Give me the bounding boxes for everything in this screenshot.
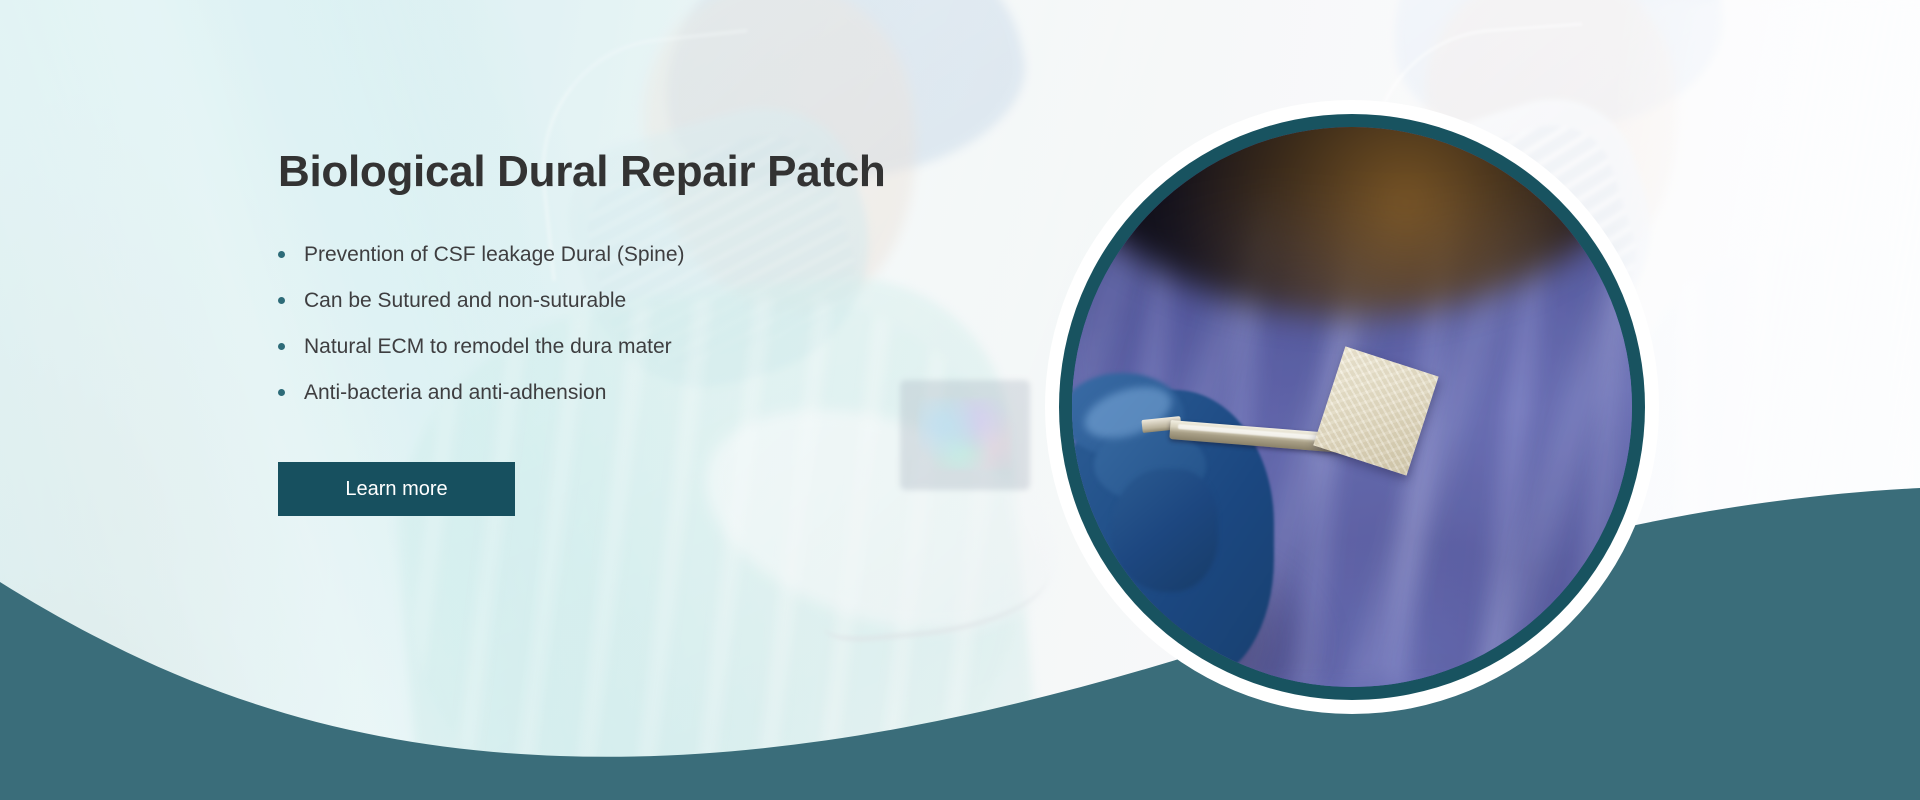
wave-path <box>0 488 1920 800</box>
product-image-circle <box>1045 100 1659 714</box>
list-item-label: Prevention of CSF leakage Dural (Spine) <box>304 243 685 266</box>
bullet-dot-icon <box>278 389 285 396</box>
photo-glove-thumb <box>1111 469 1217 592</box>
product-photo <box>1072 127 1632 687</box>
list-item: Natural ECM to remodel the dura mater <box>278 334 1038 361</box>
hero-content: Biological Dural Repair Patch Prevention… <box>278 148 1038 516</box>
learn-more-button[interactable]: Learn more <box>278 462 515 516</box>
bullet-dot-icon <box>278 343 285 350</box>
hero-banner: Biological Dural Repair Patch Prevention… <box>0 0 1920 800</box>
bullet-dot-icon <box>278 251 285 258</box>
feature-list: Prevention of CSF leakage Dural (Spine) … <box>278 242 1038 407</box>
list-item: Can be Sutured and non-suturable <box>278 288 1038 315</box>
list-item-label: Anti-bacteria and anti-adhension <box>304 381 606 404</box>
product-image-ring <box>1059 114 1645 700</box>
list-item-label: Can be Sutured and non-suturable <box>304 289 626 312</box>
list-item-label: Natural ECM to remodel the dura mater <box>304 335 672 358</box>
page-title: Biological Dural Repair Patch <box>278 148 1038 196</box>
list-item: Prevention of CSF leakage Dural (Spine) <box>278 242 1038 269</box>
list-item: Anti-bacteria and anti-adhension <box>278 380 1038 407</box>
bullet-dot-icon <box>278 297 285 304</box>
